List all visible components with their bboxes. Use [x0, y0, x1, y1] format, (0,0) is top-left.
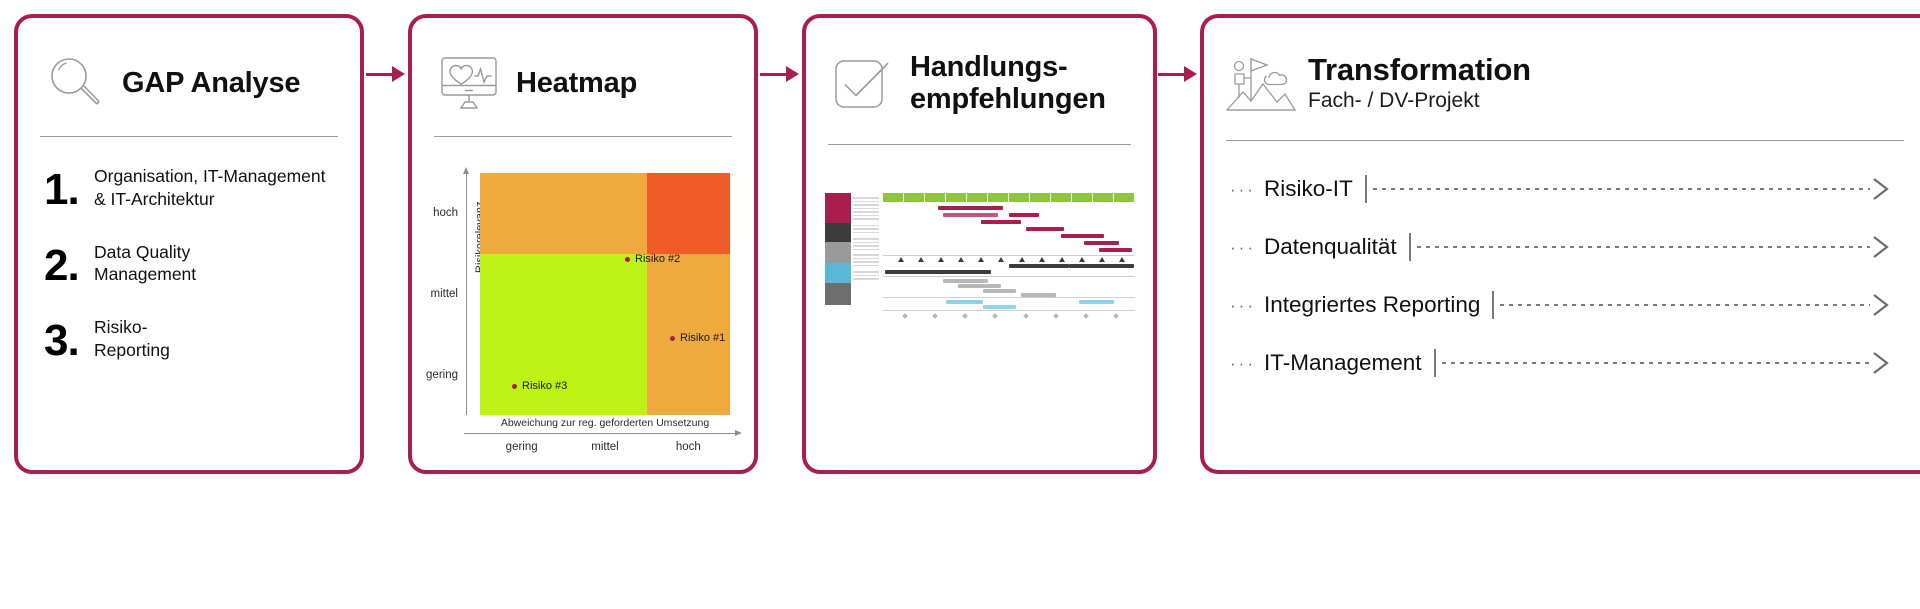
list-item: 3. Risiko- Reporting: [44, 314, 340, 362]
leading-dots-icon: ···: [1230, 181, 1256, 198]
panel-subtitle: Fach- / DV-Projekt: [1308, 88, 1531, 113]
mountain-flag-icon: [1224, 46, 1298, 120]
leading-dots-icon: ···: [1230, 297, 1256, 314]
list-item-label: Integriertes Reporting: [1264, 292, 1480, 318]
point-marker-icon: [670, 336, 675, 341]
list-item-number: 2.: [44, 246, 94, 286]
heatmap-cell: [563, 254, 646, 335]
panel-title: GAP Analyse: [122, 67, 300, 99]
list-item-number: 1.: [44, 170, 94, 210]
chevron-right-icon: [1870, 292, 1892, 318]
panel-title-block: Transformation Fach- / DV-Projekt: [1308, 53, 1531, 114]
list-item-label: Data Quality Management: [94, 239, 196, 287]
gantt-task-names: [851, 193, 881, 305]
chevron-right-icon: [1870, 350, 1892, 376]
heatmap-point-risiko-2: Risiko #2: [625, 253, 680, 265]
panel-header: GAP Analyse: [18, 18, 360, 128]
heatmap-x-axis: [464, 433, 736, 434]
panel-title-block: Handlungs- empfehlungen: [910, 51, 1106, 116]
panel-header: Handlungs- empfehlungen: [806, 18, 1153, 128]
arrow-1-icon: [366, 60, 410, 88]
transformation-item-list: ··· Risiko-IT ··· Datenqualität ··· In: [1204, 141, 1920, 389]
process-diagram: GAP Analyse 1. Organisation, IT-Manageme…: [0, 0, 1920, 609]
list-item: ··· Integriertes Reporting: [1230, 279, 1920, 331]
point-marker-icon: [625, 257, 630, 262]
panel-heatmap: Heatmap Risikorelevanz hoch mittel gerin…: [408, 14, 758, 474]
gantt-chart-thumbnail: [825, 193, 1135, 305]
checkmark-box-icon: [826, 46, 900, 120]
list-item-label: IT-Management: [1264, 350, 1422, 376]
point-label: Risiko #3: [522, 380, 567, 392]
list-item-label: Datenqualität: [1264, 234, 1397, 260]
x-tick-hoch: hoch: [647, 441, 730, 453]
y-tick-gering: gering: [426, 369, 458, 381]
chevron-right-icon: [1870, 176, 1892, 202]
heatmap-cell: [647, 254, 730, 335]
list-item: ··· IT-Management: [1230, 337, 1920, 389]
heatmap-chart: Risikorelevanz hoch mittel gering Risiko: [412, 165, 754, 465]
list-item: 2. Data Quality Management: [44, 239, 340, 287]
heatmap-x-axis-label: Abweichung zur reg. geforderten Umsetzun…: [480, 417, 730, 429]
list-item-number: 3.: [44, 321, 94, 361]
heatmap-point-risiko-3: Risiko #3: [512, 380, 567, 392]
gap-item-list: 1. Organisation, IT-Management & IT-Arch…: [18, 137, 360, 362]
gantt-bars: [883, 204, 1135, 305]
y-tick-mittel: mittel: [431, 288, 458, 300]
panel-header: Heatmap: [412, 18, 754, 128]
dotted-connector: [1373, 188, 1870, 190]
panel-title-block: Heatmap: [516, 67, 637, 99]
y-tick-hoch: hoch: [433, 207, 458, 219]
dotted-connector: [1417, 246, 1870, 248]
list-item: ··· Datenqualität: [1230, 221, 1920, 273]
heatmap-cell: [563, 334, 646, 415]
panel-transformation: Transformation Fach- / DV-Projekt ··· Ri…: [1200, 14, 1920, 474]
heatmap-cell: [647, 334, 730, 415]
heatmap-grid: [480, 173, 730, 415]
chevron-right-icon: [1870, 234, 1892, 260]
panel-title: Transformation: [1308, 53, 1531, 88]
heatmap-x-ticks: gering mittel hoch: [480, 441, 730, 453]
heatmap-cell: [480, 173, 563, 254]
start-bar-icon: [1365, 175, 1367, 203]
monitor-heartbeat-icon: [432, 46, 506, 120]
gantt-lane-colors: [825, 193, 851, 305]
panel-title-block: GAP Analyse: [122, 67, 300, 99]
dotted-connector: [1442, 362, 1870, 364]
panel-title: Handlungs- empfehlungen: [910, 51, 1106, 116]
start-bar-icon: [1409, 233, 1411, 261]
panel-header: Transformation Fach- / DV-Projekt: [1204, 18, 1920, 128]
heatmap-cell: [647, 173, 730, 254]
arrow-3-icon: [1158, 60, 1202, 88]
list-item: 1. Organisation, IT-Management & IT-Arch…: [44, 163, 340, 211]
point-label: Risiko #1: [680, 332, 725, 344]
heatmap-y-axis: hoch mittel gering: [466, 173, 467, 415]
dotted-connector: [1500, 304, 1870, 306]
list-item-label: Risiko-IT: [1264, 176, 1353, 202]
arrow-2-icon: [760, 60, 804, 88]
point-label: Risiko #2: [635, 253, 680, 265]
list-item: ··· Risiko-IT: [1230, 163, 1920, 215]
panel-gap-analyse: GAP Analyse 1. Organisation, IT-Manageme…: [14, 14, 364, 474]
heatmap-cell: [480, 334, 563, 415]
leading-dots-icon: ···: [1230, 355, 1256, 372]
header-divider: [828, 144, 1131, 145]
panel-title: Heatmap: [516, 67, 637, 99]
list-item-label: Risiko- Reporting: [94, 314, 170, 362]
header-divider: [434, 136, 732, 137]
heatmap-cell: [563, 173, 646, 254]
gantt-timeline-header: [883, 193, 1135, 202]
panel-handlungsempfehlungen: Handlungs- empfehlungen: [802, 14, 1157, 474]
point-marker-icon: [512, 384, 517, 389]
list-item-label: Organisation, IT-Management & IT-Archite…: [94, 163, 326, 211]
heatmap-cell: [480, 254, 563, 335]
x-tick-gering: gering: [480, 441, 563, 453]
leading-dots-icon: ···: [1230, 239, 1256, 256]
start-bar-icon: [1492, 291, 1494, 319]
magnifier-icon: [38, 46, 112, 120]
heatmap-point-risiko-1: Risiko #1: [670, 332, 725, 344]
start-bar-icon: [1434, 349, 1436, 377]
x-tick-mittel: mittel: [563, 441, 646, 453]
